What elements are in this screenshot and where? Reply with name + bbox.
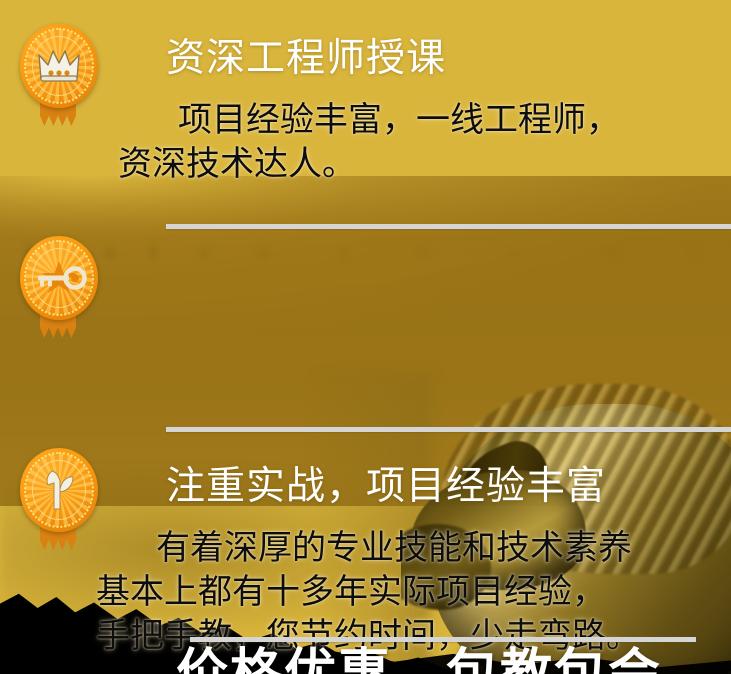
section-1-body: 项目经验丰富，一线工程师， 资深技术达人。 [118, 98, 620, 186]
badge-glyph-crown [20, 24, 98, 108]
badge-coin [20, 236, 98, 320]
badge-glyph-key [20, 236, 98, 320]
feature-section-2: 注重实战，项目经验丰富 有着深厚的专业技能和技术素养 基本上都有十多年实际项目经… [0, 228, 731, 424]
section-divider-3 [190, 637, 696, 642]
crown-medal-icon [14, 22, 106, 130]
section-1-line-2: 资深技术达人。 [118, 142, 620, 186]
bottom-headline: 价格优惠，包教包会 [176, 648, 662, 674]
badge-coin [20, 24, 98, 108]
badge-coin [20, 448, 98, 532]
key-medal-icon [14, 234, 106, 342]
banner-content: 资深工程师授课 项目经验丰富，一线工程师， 资深技术达人。 [0, 0, 731, 674]
course-feature-banner: 资深工程师授课 项目经验丰富，一线工程师， 资深技术达人。 [0, 0, 731, 674]
section-divider-2 [166, 427, 731, 432]
feature-section-3: 乐于分享，认真负责 针对客户实际需求，案例教学， 边讲边练，互动式授课， [0, 440, 731, 630]
feature-section-1: 资深工程师授课 项目经验丰富，一线工程师， 资深技术达人。 [0, 16, 731, 212]
section-1-heading: 资深工程师授课 [166, 38, 446, 81]
badge-glyph-sprout [20, 448, 98, 532]
sprout-medal-icon [14, 446, 106, 554]
section-1-line-1: 项目经验丰富，一线工程师， [118, 98, 620, 142]
